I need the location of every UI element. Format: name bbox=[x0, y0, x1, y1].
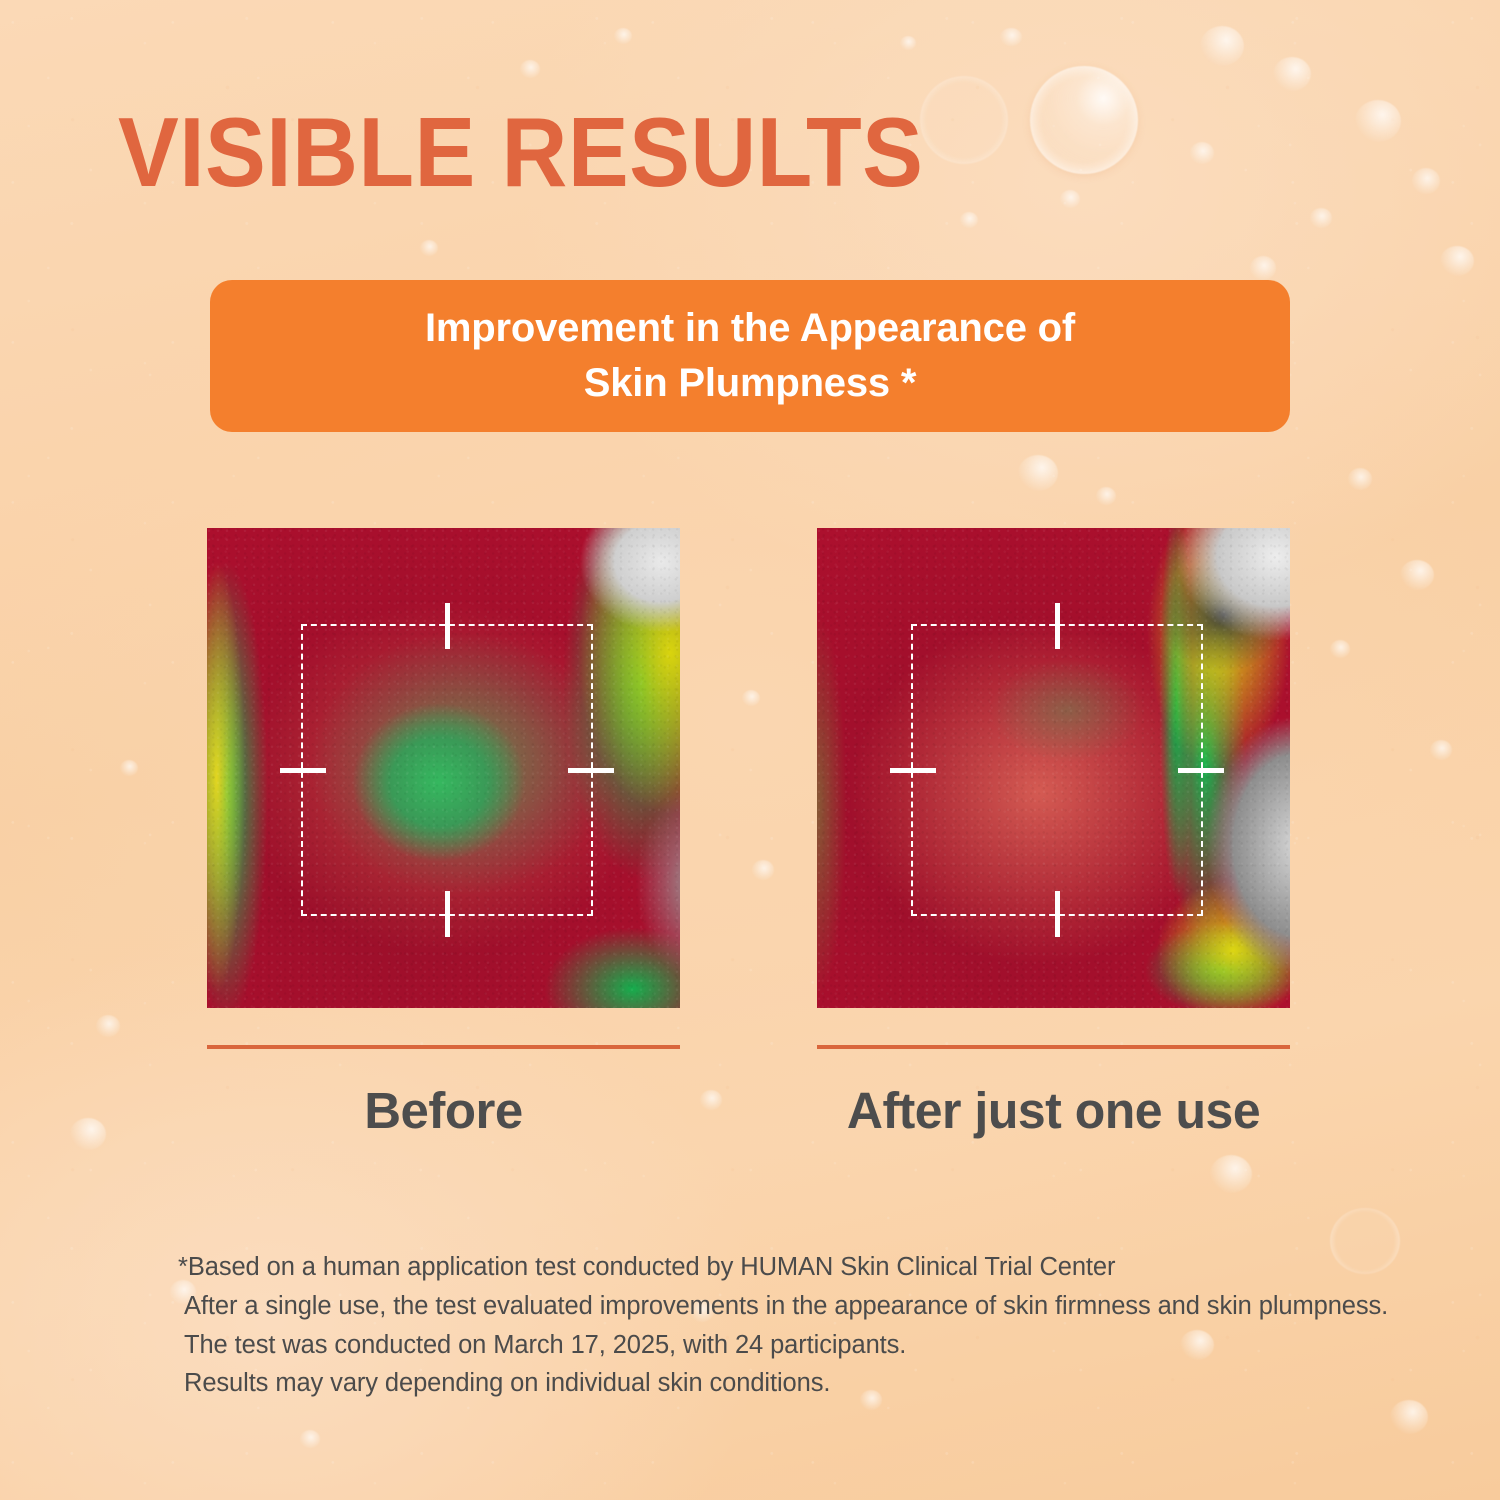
page-title: VISIBLE RESULTS bbox=[118, 103, 923, 201]
banner-line-2: Skin Plumpness * bbox=[584, 359, 916, 408]
panel-after: After just one use bbox=[817, 528, 1290, 1148]
before-after-comparison: Before After just one use bbox=[207, 528, 1290, 1148]
caption-divider bbox=[817, 1045, 1290, 1049]
reticle-tick-right-icon bbox=[1178, 768, 1224, 773]
reticle-tick-left-icon bbox=[890, 768, 936, 773]
footnote-line-3: The test was conducted on March 17, 2025… bbox=[178, 1326, 1378, 1365]
footnote-line-2: After a single use, the test evaluated i… bbox=[178, 1287, 1378, 1326]
caption-after: After just one use bbox=[822, 1081, 1286, 1140]
reticle-tick-bottom-icon bbox=[445, 891, 450, 937]
panel-before: Before bbox=[207, 528, 680, 1148]
banner-line-1: Improvement in the Appearance of bbox=[425, 304, 1075, 353]
skin-analysis-scan-before bbox=[207, 528, 680, 1008]
footnote-line-1: *Based on a human application test condu… bbox=[178, 1248, 1378, 1287]
measurement-reticle-before bbox=[301, 624, 593, 916]
visible-results-poster: VISIBLE RESULTS Improvement in the Appea… bbox=[0, 0, 1500, 1500]
reticle-tick-bottom-icon bbox=[1055, 891, 1060, 937]
reticle-tick-right-icon bbox=[568, 768, 614, 773]
caption-divider bbox=[207, 1045, 680, 1049]
footnote-disclaimer: *Based on a human application test condu… bbox=[178, 1248, 1378, 1403]
reticle-tick-left-icon bbox=[280, 768, 326, 773]
skin-analysis-scan-after bbox=[817, 528, 1290, 1008]
headline-banner: Improvement in the Appearance of Skin Pl… bbox=[210, 280, 1290, 432]
reticle-tick-top-icon bbox=[445, 603, 450, 649]
measurement-reticle-after bbox=[911, 624, 1203, 916]
footnote-line-4: Results may vary depending on individual… bbox=[178, 1364, 1378, 1403]
reticle-tick-top-icon bbox=[1055, 603, 1060, 649]
caption-before: Before bbox=[207, 1081, 680, 1140]
